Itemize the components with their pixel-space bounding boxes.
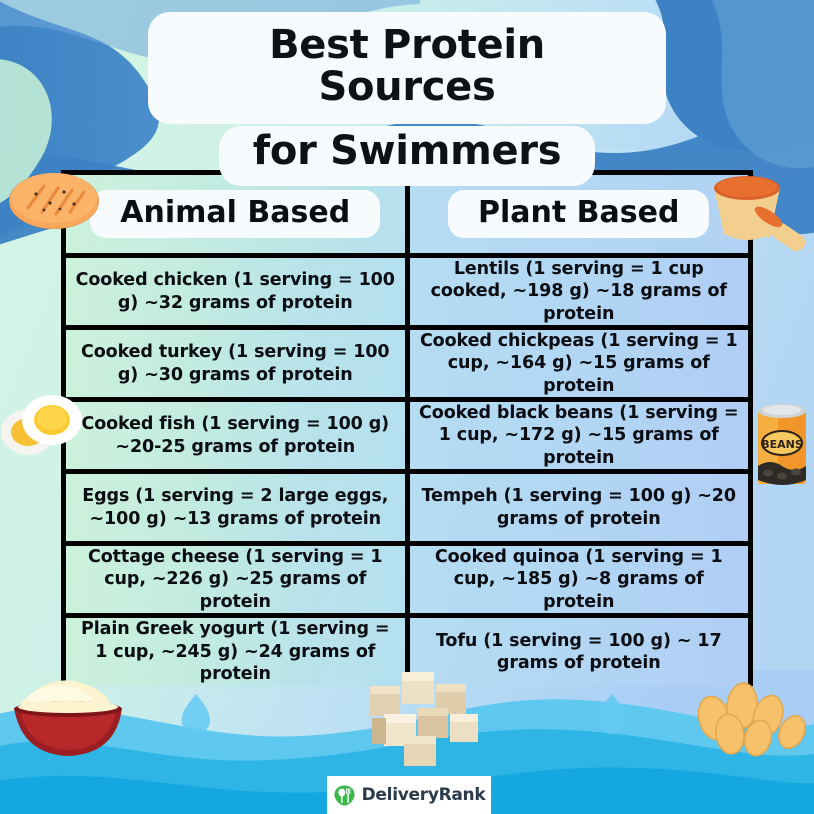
- table-row: Cooked chickpeas (1 serving = 1 cup, ~16…: [410, 325, 749, 397]
- table-row: Cooked fish (1 serving = 100 g) ~20-25 g…: [66, 397, 405, 469]
- cell-text: Cooked quinoa (1 serving = 1 cup, ~185 g…: [418, 546, 741, 613]
- title-line-2: for Swimmers: [219, 126, 595, 186]
- cell-text: Cottage cheese (1 serving = 1 cup, ~226 …: [74, 546, 397, 613]
- table-row: Cooked chicken (1 serving = 100 g) ~32 g…: [66, 253, 405, 325]
- table-row: Cooked quinoa (1 serving = 1 cup, ~185 g…: [410, 541, 749, 613]
- column-header-plant-based: Plant Based: [410, 175, 749, 253]
- column-plant-based: Plant Based Lentils (1 serving = 1 cup c…: [405, 175, 749, 681]
- leaf-fork-logo-icon: [333, 784, 356, 807]
- table-row: Cooked black beans (1 serving = 1 cup, ~…: [410, 397, 749, 469]
- cell-text: Cooked chicken (1 serving = 100 g) ~32 g…: [74, 269, 397, 314]
- cell-text: Plain Greek yogurt (1 serving = 1 cup, ~…: [74, 618, 397, 685]
- brand-logo[interactable]: DeliveryRank: [327, 776, 491, 814]
- brand-name: DeliveryRank: [362, 785, 486, 805]
- table-row: Eggs (1 serving = 2 large eggs, ~100 g) …: [66, 469, 405, 541]
- cell-text: Cooked fish (1 serving = 100 g) ~20-25 g…: [74, 413, 397, 458]
- page-title: Best Protein Sources for Swimmers: [148, 12, 666, 186]
- table-row: Plain Greek yogurt (1 serving = 1 cup, ~…: [66, 613, 405, 686]
- table-row: Tofu (1 serving = 100 g) ~ 17 grams of p…: [410, 613, 749, 686]
- cell-text: Eggs (1 serving = 2 large eggs, ~100 g) …: [74, 485, 397, 530]
- cell-text: Cooked black beans (1 serving = 1 cup, ~…: [418, 402, 741, 469]
- table-row: Tempeh (1 serving = 100 g) ~20 grams of …: [410, 469, 749, 541]
- column-header-label: Plant Based: [448, 190, 709, 239]
- cell-text: Lentils (1 serving = 1 cup cooked, ~198 …: [418, 258, 741, 325]
- cell-text: Tofu (1 serving = 100 g) ~ 17 grams of p…: [418, 630, 741, 675]
- infographic-canvas: Best Protein Sources for Swimmers: [0, 0, 814, 814]
- cell-text: Tempeh (1 serving = 100 g) ~20 grams of …: [418, 485, 741, 530]
- table-row: Lentils (1 serving = 1 cup cooked, ~198 …: [410, 253, 749, 325]
- protein-sources-table: Animal Based Cooked chicken (1 serving =…: [61, 170, 753, 686]
- column-header-animal-based: Animal Based: [66, 175, 405, 253]
- cell-text: Cooked chickpeas (1 serving = 1 cup, ~16…: [418, 330, 741, 397]
- column-header-label: Animal Based: [90, 190, 380, 239]
- cell-text: Cooked turkey (1 serving = 100 g) ~30 gr…: [74, 341, 397, 386]
- column-animal-based: Animal Based Cooked chicken (1 serving =…: [66, 175, 405, 681]
- title-line-1: Best Protein Sources: [148, 12, 666, 124]
- table-row: Cottage cheese (1 serving = 1 cup, ~226 …: [66, 541, 405, 613]
- table-row: Cooked turkey (1 serving = 100 g) ~30 gr…: [66, 325, 405, 397]
